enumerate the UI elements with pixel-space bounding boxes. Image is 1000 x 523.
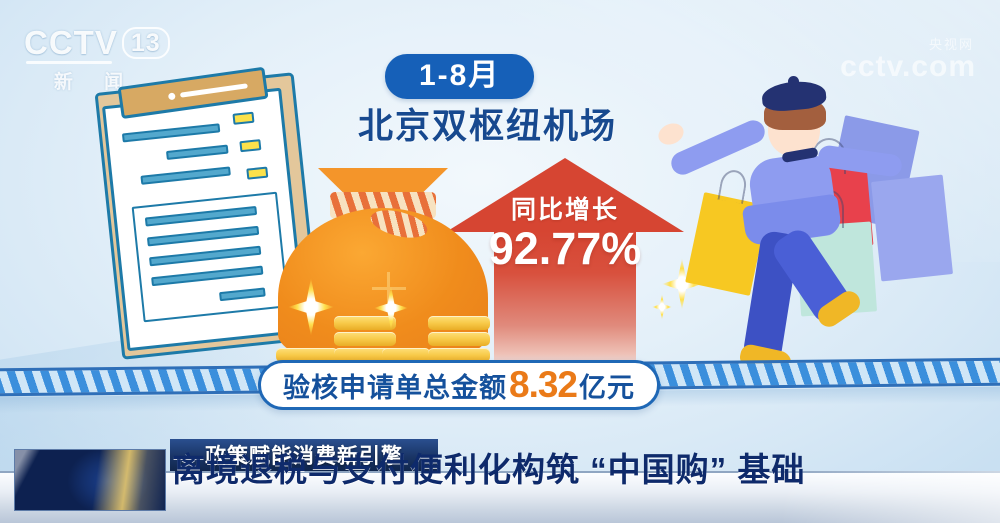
left-hand — [655, 120, 687, 149]
money-bag-icon — [278, 168, 488, 358]
form-line — [219, 287, 266, 301]
coin — [334, 332, 396, 346]
form-checkbox — [239, 139, 261, 152]
form-section-box — [132, 192, 289, 323]
form-checkbox — [246, 167, 268, 180]
lower-third: 政策赋能消费新引擎 离境退税与支付便利化构筑 “中国购” 基础 — [0, 439, 1000, 523]
date-range-pill: 1-8月 — [385, 54, 534, 99]
form-line — [122, 123, 220, 142]
bag-handle — [717, 168, 748, 204]
news-program-logo — [14, 449, 166, 511]
headline-bar-fade — [780, 471, 1000, 523]
form-line — [145, 206, 257, 227]
cctv-logo-underline — [26, 61, 112, 64]
headline-text: 离境退税与支付便利化构筑 “中国购” 基础 — [172, 443, 805, 491]
stat-value: 8.32 — [509, 364, 577, 406]
coin — [428, 332, 490, 346]
stat-unit: 亿元 — [579, 366, 635, 405]
cctv-channel-logo: CCTV 13 新 闻 — [24, 26, 156, 94]
form-line — [140, 166, 230, 184]
broadcast-graphic-screen: CCTV 13 新 闻 央视网 cctv.com 1-8月 北京双枢纽机场 — [0, 0, 1000, 523]
form-line — [166, 145, 229, 160]
shopping-bag-lavender — [871, 175, 953, 282]
cctv-channel-number: 13 — [122, 27, 170, 59]
sparkle-icon — [374, 286, 408, 330]
cctv-wordmark: CCTV 13 — [24, 26, 156, 59]
stat-label: 验核申请单总金额 — [283, 366, 507, 405]
form-line — [149, 246, 261, 267]
cctv-logo-text: CCTV — [24, 26, 118, 59]
form-line — [151, 266, 263, 287]
beret-nub — [788, 76, 799, 87]
coin-stack — [428, 314, 490, 362]
shopper-with-bags-icon — [640, 72, 1000, 372]
form-line — [147, 226, 259, 247]
sparkle-icon — [288, 278, 334, 336]
subject-title: 北京双枢纽机场 — [358, 98, 617, 149]
form-checkbox — [232, 112, 254, 125]
total-amount-pill: 验核申请单总金额 8.32 亿元 — [258, 360, 660, 410]
coin — [428, 316, 490, 330]
